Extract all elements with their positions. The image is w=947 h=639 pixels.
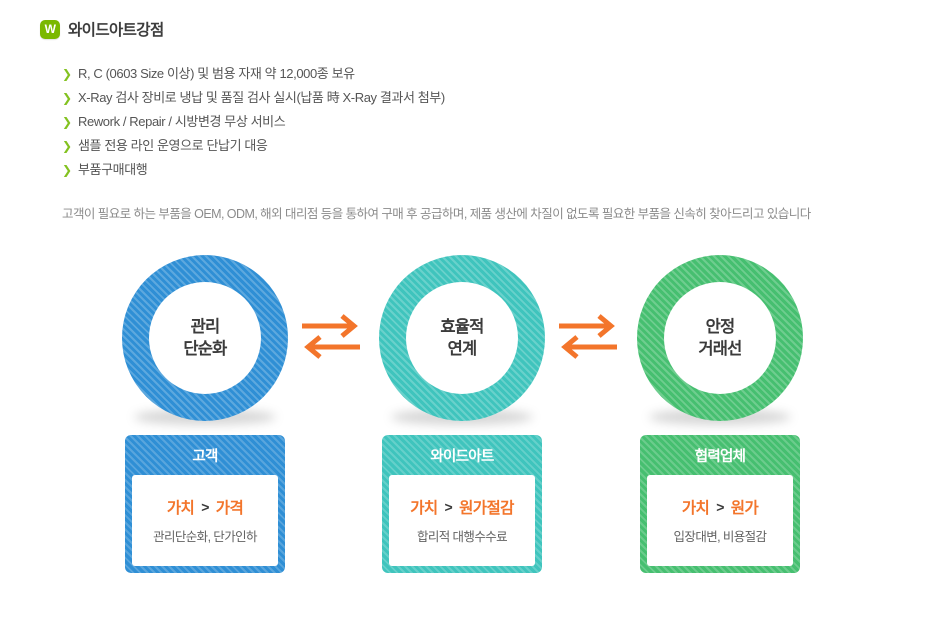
circle-ring: 효율적 연계: [379, 255, 545, 421]
intro-paragraph: 고객이 필요로 하는 부품을 OEM, ODM, 해외 대리점 등을 통하여 구…: [62, 203, 811, 222]
list-item-label: 샘플 전용 라인 운영으로 단납기 대응: [78, 134, 267, 158]
card-note: 합리적 대행수수료: [417, 526, 507, 545]
exchange-arrows: [557, 313, 619, 361]
page-title: 와이드아트강점: [68, 18, 164, 40]
list-item: ❯ Rework / Repair / 시방변경 무상 서비스: [62, 110, 882, 134]
card-formula: 가치 > 원가: [682, 496, 758, 518]
diagram-column-customer: 관리 단순화: [105, 250, 305, 421]
list-item: ❯ X-Ray 검사 장비로 냉납 및 품질 검사 실시(납품 時 X-Ray …: [62, 86, 882, 110]
exchange-arrows: [300, 313, 362, 361]
chevron-right-icon: ❯: [62, 158, 78, 182]
circle-inner: 관리 단순화: [149, 282, 261, 394]
value-card-widart: 와이드아트 가치 > 원가절감 합리적 대행수수료: [382, 435, 542, 573]
widart-logo-icon: W: [40, 20, 60, 39]
circle-label-line1: 효율적: [440, 317, 483, 337]
formula-right-term: 원가: [731, 496, 758, 518]
diagram-column-widart: 효율적 연계: [362, 250, 562, 421]
chevron-right-icon: >: [201, 499, 209, 515]
circle-inner: 안정 거래선: [664, 282, 776, 394]
list-item-label: 부품구매대행: [78, 158, 147, 182]
value-chain-diagram: 관리 단순화 효율적 연계 안정 거래선: [0, 250, 947, 590]
formula-left-term: 가치: [682, 496, 709, 518]
card-body: 가치 > 원가 입장대변, 비용절감: [647, 475, 793, 566]
chevron-right-icon: ❯: [62, 110, 78, 134]
circle-group: 안정 거래선: [637, 255, 803, 421]
circle-label-line1: 관리: [191, 317, 220, 337]
circle-group: 관리 단순화: [122, 255, 288, 421]
arrow-left-icon: [300, 334, 362, 382]
circle-label-line2: 단순화: [183, 339, 226, 359]
card-formula: 가치 > 가격: [167, 496, 243, 518]
chevron-right-icon: >: [445, 499, 453, 515]
formula-left-term: 가치: [167, 496, 194, 518]
circle-ring: 관리 단순화: [122, 255, 288, 421]
formula-right-term: 원가절감: [459, 496, 514, 518]
value-card-customer: 고객 가치 > 가격 관리단순화, 단가인하: [125, 435, 285, 573]
circle-inner: 효율적 연계: [406, 282, 518, 394]
card-formula: 가치 > 원가절감: [410, 496, 514, 518]
card-body: 가치 > 원가절감 합리적 대행수수료: [389, 475, 535, 566]
circle-ring: 안정 거래선: [637, 255, 803, 421]
list-item-label: R, C (0603 Size 이상) 및 범용 자재 약 12,000종 보유: [78, 62, 355, 86]
circle-label-line2: 거래선: [698, 339, 741, 359]
list-item: ❯ R, C (0603 Size 이상) 및 범용 자재 약 12,000종 …: [62, 62, 882, 86]
card-note: 관리단순화, 단가인하: [153, 526, 257, 545]
formula-left-term: 가치: [410, 496, 437, 518]
chevron-right-icon: ❯: [62, 134, 78, 158]
circle-label-line1: 안정: [706, 317, 735, 337]
card-title: 협력업체: [647, 442, 793, 475]
advantages-list: ❯ R, C (0603 Size 이상) 및 범용 자재 약 12,000종 …: [62, 62, 882, 182]
circle-label-line2: 연계: [448, 339, 477, 359]
card-title: 와이드아트: [389, 442, 535, 475]
page-header: W 와이드아트강점: [40, 18, 164, 40]
circle-group: 효율적 연계: [379, 255, 545, 421]
card-body: 가치 > 가격 관리단순화, 단가인하: [132, 475, 278, 566]
list-item: ❯ 부품구매대행: [62, 158, 882, 182]
formula-right-term: 가격: [216, 496, 243, 518]
value-card-partner: 협력업체 가치 > 원가 입장대변, 비용절감: [640, 435, 800, 573]
list-item: ❯ 샘플 전용 라인 운영으로 단납기 대응: [62, 134, 882, 158]
arrow-left-icon: [557, 334, 619, 382]
card-note: 입장대변, 비용절감: [674, 526, 767, 545]
chevron-right-icon: >: [716, 499, 724, 515]
list-item-label: X-Ray 검사 장비로 냉납 및 품질 검사 실시(납품 時 X-Ray 결과…: [78, 86, 445, 110]
card-title: 고객: [132, 442, 278, 475]
diagram-column-partner: 안정 거래선: [620, 250, 820, 421]
chevron-right-icon: ❯: [62, 62, 78, 86]
list-item-label: Rework / Repair / 시방변경 무상 서비스: [78, 110, 285, 134]
chevron-right-icon: ❯: [62, 86, 78, 110]
